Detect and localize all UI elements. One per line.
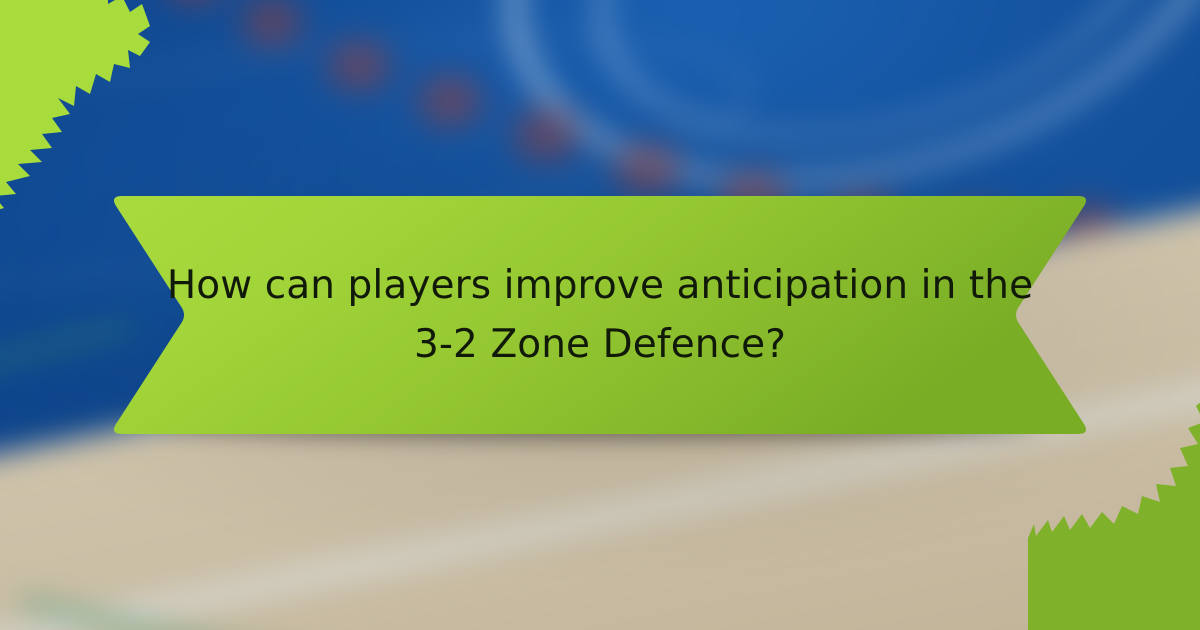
social-card: How can players improve anticipation in … bbox=[0, 0, 1200, 630]
banner-heading-line-2: 3-2 Zone Defence? bbox=[414, 315, 786, 374]
banner-heading: How can players improve anticipation in … bbox=[110, 196, 1090, 434]
banner-heading-line-1: How can players improve anticipation in … bbox=[167, 256, 1033, 315]
ribbon-banner: How can players improve anticipation in … bbox=[110, 196, 1090, 434]
